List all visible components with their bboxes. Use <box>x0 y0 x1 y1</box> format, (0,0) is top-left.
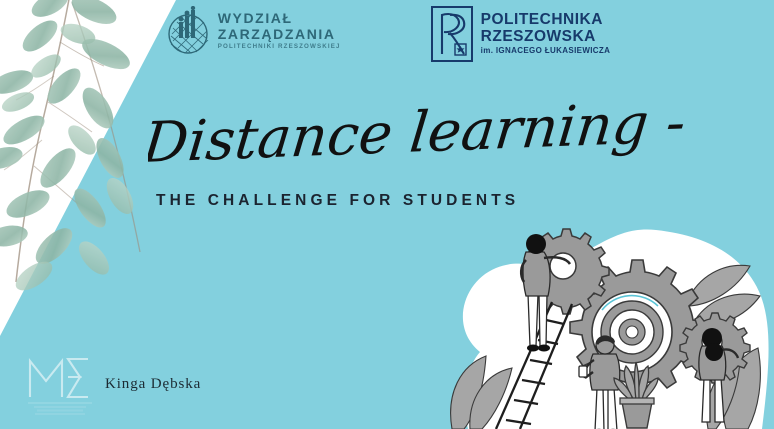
university-line-1: POLITECHNIKA <box>481 12 611 29</box>
presentation-title-slide: WYDZIAŁ ZARZĄDZANIA POLITECHNIKI RZESZOW… <box>0 0 774 429</box>
author-name: Kinga Dębska <box>105 376 201 393</box>
logo-row: WYDZIAŁ ZARZĄDZANIA POLITECHNIKI RZESZOW… <box>0 6 774 80</box>
page-title: Distance learning - <box>148 100 704 186</box>
faculty-wordmark: WYDZIAŁ ZARZĄDZANIA POLITECHNIKI RZESZOW… <box>218 11 341 51</box>
university-wordmark: POLITECHNIKA RZESZOWSKA im. IGNACEGO ŁUK… <box>481 12 611 56</box>
faculty-emblem-icon <box>164 6 210 56</box>
me-monogram-watermark-icon <box>24 343 96 417</box>
university-line-3: im. IGNACEGO ŁUKASIEWICZA <box>481 47 611 56</box>
university-line-2: RZESZOWSKA <box>481 29 611 46</box>
title-block: Distance learning - THE CHALLENGE FOR ST… <box>148 100 748 210</box>
teamwork-gears-icon <box>444 224 774 429</box>
faculty-line-2: ZARZĄDZANIA <box>218 27 341 42</box>
pr-monogram-icon <box>431 6 473 62</box>
page-subtitle: THE CHALLENGE FOR STUDENTS <box>156 192 748 210</box>
logo-politechnika-rzeszowska: POLITECHNIKA RZESZOWSKA im. IGNACEGO ŁUK… <box>431 6 611 62</box>
page-title-text: Distance learning - <box>148 100 689 176</box>
faculty-line-3: POLITECHNIKI RZESZOWSKIEJ <box>218 44 341 51</box>
logo-wydzial-zarzadzania: WYDZIAŁ ZARZĄDZANIA POLITECHNIKI RZESZOW… <box>164 6 341 56</box>
faculty-line-1: WYDZIAŁ <box>218 11 341 26</box>
